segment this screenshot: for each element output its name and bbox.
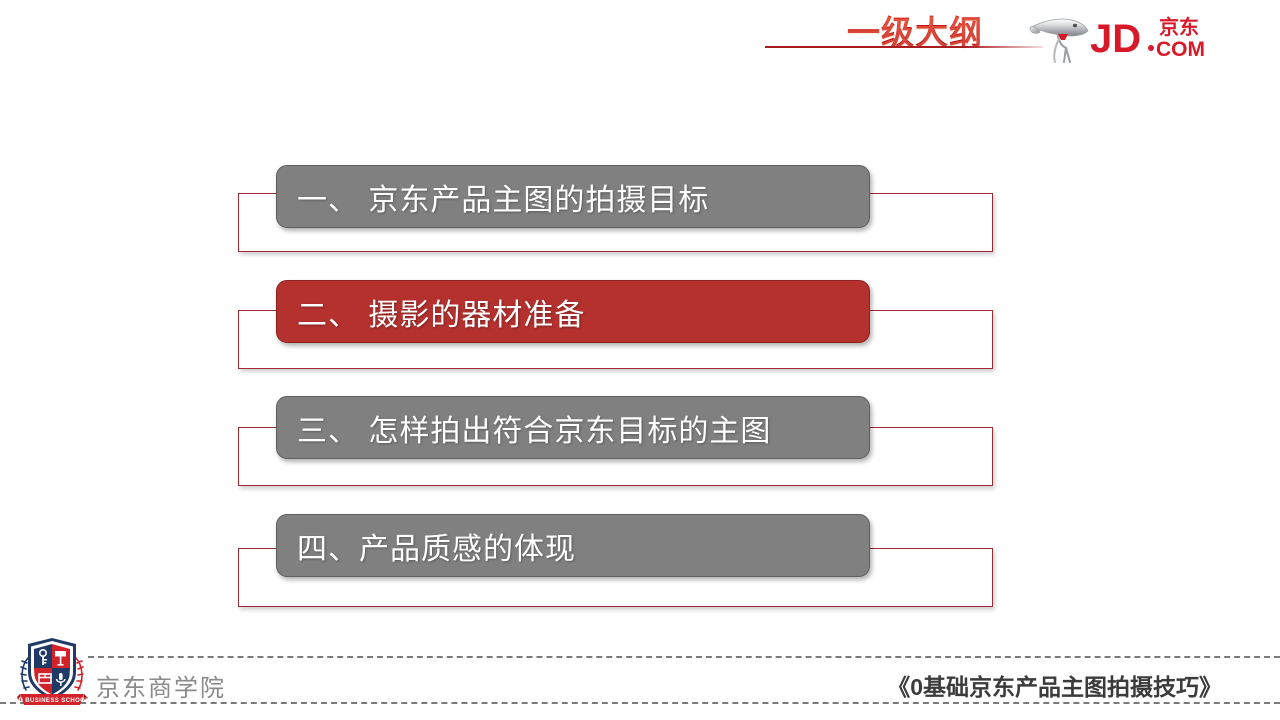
footer-divider-top: [88, 656, 1280, 658]
slide-canvas: 一级大纲: [0, 0, 1280, 720]
header-underline-rule: [765, 46, 1043, 48]
footer-course-title: 《0基础京东产品主图拍摄技巧》: [887, 668, 1222, 702]
jd-wordmark: JD: [1090, 17, 1141, 61]
jd-dot: [1148, 45, 1154, 51]
jd-cn-text: 京东: [1159, 15, 1199, 39]
outline-item-1-label: 一、 京东产品主图的拍摄目标: [277, 175, 709, 219]
joy-mascot-icon: [1030, 19, 1088, 62]
outline-item-2-label: 二、 摄影的器材准备: [277, 290, 585, 334]
jd-business-school-crest-icon: JD BUSINESS SCHOOL: [12, 632, 92, 712]
outline-item-2[interactable]: 二、 摄影的器材准备: [276, 280, 870, 343]
crest-banner-text: JD BUSINESS SCHOOL: [15, 698, 90, 704]
outline-item-3[interactable]: 三、 怎样拍出符合京东目标的主图: [276, 396, 870, 459]
footer-school-name: 京东商学院: [96, 668, 226, 703]
outline-item-4[interactable]: 四、产品质感的体现: [276, 514, 870, 577]
jd-com-logo: JD 京东 COM: [1028, 12, 1214, 64]
outline-item-1[interactable]: 一、 京东产品主图的拍摄目标: [276, 165, 870, 228]
outline-item-4-label: 四、产品质感的体现: [277, 524, 576, 568]
outline-item-3-label: 三、 怎样拍出符合京东目标的主图: [277, 406, 771, 450]
jd-domain-text: COM: [1156, 38, 1205, 61]
